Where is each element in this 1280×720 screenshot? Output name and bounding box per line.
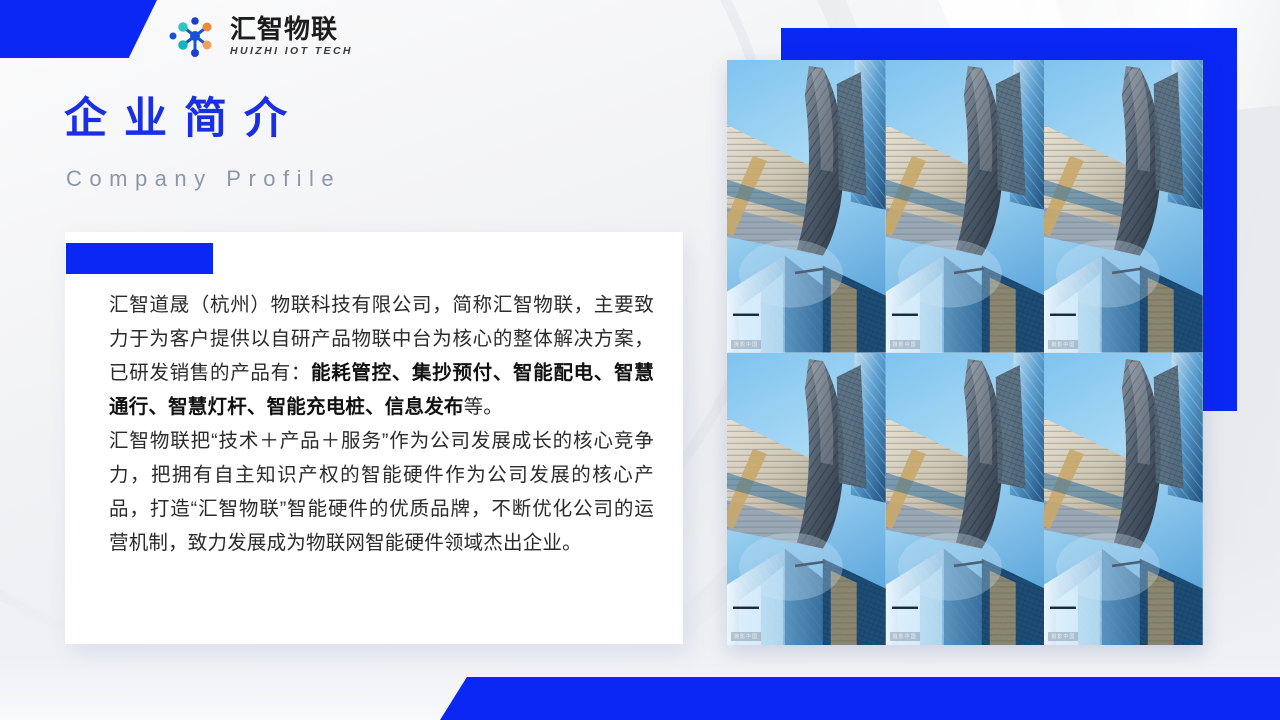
photo-tile: 摄影中国 bbox=[727, 353, 886, 646]
slide-canvas: 汇智物联 HUIZHI IOT TECH 企业简介 Company Profil… bbox=[0, 0, 1280, 720]
company-logo: 汇智物联 HUIZHI IOT TECH bbox=[168, 8, 354, 64]
logo-text-block: 汇智物联 HUIZHI IOT TECH bbox=[230, 16, 353, 57]
photo-watermark: 摄影中国 bbox=[1048, 632, 1078, 641]
card-body: 汇智道晟（杭州）物联科技有限公司，简称汇智物联，主要致力于为客户提供以自研产品物… bbox=[109, 288, 654, 560]
photo-watermark: 摄影中国 bbox=[890, 632, 920, 641]
blue-corner-shape-top-left bbox=[0, 0, 157, 58]
page-title-chinese: 企业简介 bbox=[64, 98, 304, 141]
company-profile-card: 汇智道晟（杭州）物联科技有限公司，简称汇智物联，主要致力于为客户提供以自研产品物… bbox=[65, 232, 683, 644]
photo-tile: 摄影中国 bbox=[727, 60, 886, 353]
page-title-english: Company Profile bbox=[66, 168, 341, 190]
photo-tile: 摄影中国 bbox=[1044, 60, 1203, 353]
profile-paragraph-2: 汇智物联把“技术＋产品＋服务”作为公司发展成长的核心竞争力，把拥有自主知识产权的… bbox=[109, 424, 654, 560]
profile-paragraph-1: 汇智道晟（杭州）物联科技有限公司，简称汇智物联，主要致力于为客户提供以自研产品物… bbox=[109, 288, 654, 424]
logo-chinese-name: 汇智物联 bbox=[230, 16, 353, 42]
photo-tile: 摄影中国 bbox=[886, 60, 1045, 353]
photo-watermark: 摄影中国 bbox=[731, 632, 761, 641]
molecule-network-icon bbox=[168, 14, 222, 58]
photo-tile: 摄影中国 bbox=[1044, 353, 1203, 646]
skyscraper-photo-collage: 摄影中国 bbox=[727, 60, 1203, 645]
photo-tile-grid: 摄影中国 bbox=[727, 60, 1203, 645]
photo-watermark: 摄影中国 bbox=[1048, 340, 1078, 349]
card-accent-bar bbox=[66, 243, 213, 274]
photo-tile: 摄影中国 bbox=[886, 353, 1045, 646]
photo-watermark: 摄影中国 bbox=[890, 340, 920, 349]
logo-english-name: HUIZHI IOT TECH bbox=[230, 46, 353, 57]
blue-bar-bottom bbox=[440, 677, 1280, 720]
photo-watermark: 摄影中国 bbox=[731, 340, 761, 349]
